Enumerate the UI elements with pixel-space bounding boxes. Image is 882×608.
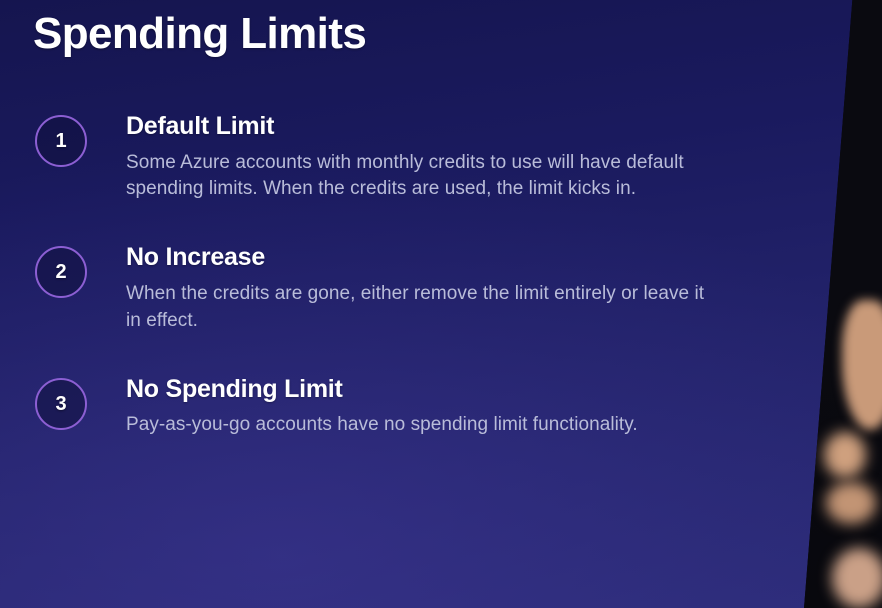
presenter-hand-shape-2 — [826, 482, 876, 524]
presenter-hand-shape-1 — [824, 432, 866, 478]
step-number-badge: 1 — [35, 115, 87, 167]
list-item-title: No Increase — [126, 244, 740, 272]
list-item-title: No Spending Limit — [126, 376, 740, 404]
numbered-list: 1 Default Limit Some Azure accounts with… — [0, 113, 740, 439]
list-item-body: Pay-as-you-go accounts have no spending … — [126, 412, 710, 439]
list-item: 1 Default Limit Some Azure accounts with… — [0, 113, 740, 203]
list-item: 3 No Spending Limit Pay-as-you-go accoun… — [0, 376, 740, 439]
step-number-badge: 3 — [35, 378, 87, 430]
list-item-body: When the credits are gone, either remove… — [126, 281, 710, 335]
list-item-title: Default Limit — [126, 113, 740, 141]
presenter-hand-shape-3 — [832, 548, 882, 608]
list-item-body: Some Azure accounts with monthly credits… — [126, 150, 710, 204]
step-number-label: 2 — [55, 262, 66, 282]
step-number-label: 1 — [55, 131, 66, 151]
presenter-video-sliver — [804, 0, 882, 608]
slide-canvas: Spending Limits 1 Default Limit Some Azu… — [0, 0, 882, 608]
page-title: Spending Limits — [33, 8, 366, 60]
step-number-badge: 2 — [35, 246, 87, 298]
list-item: 2 No Increase When the credits are gone,… — [0, 244, 740, 334]
step-number-label: 3 — [55, 394, 66, 414]
